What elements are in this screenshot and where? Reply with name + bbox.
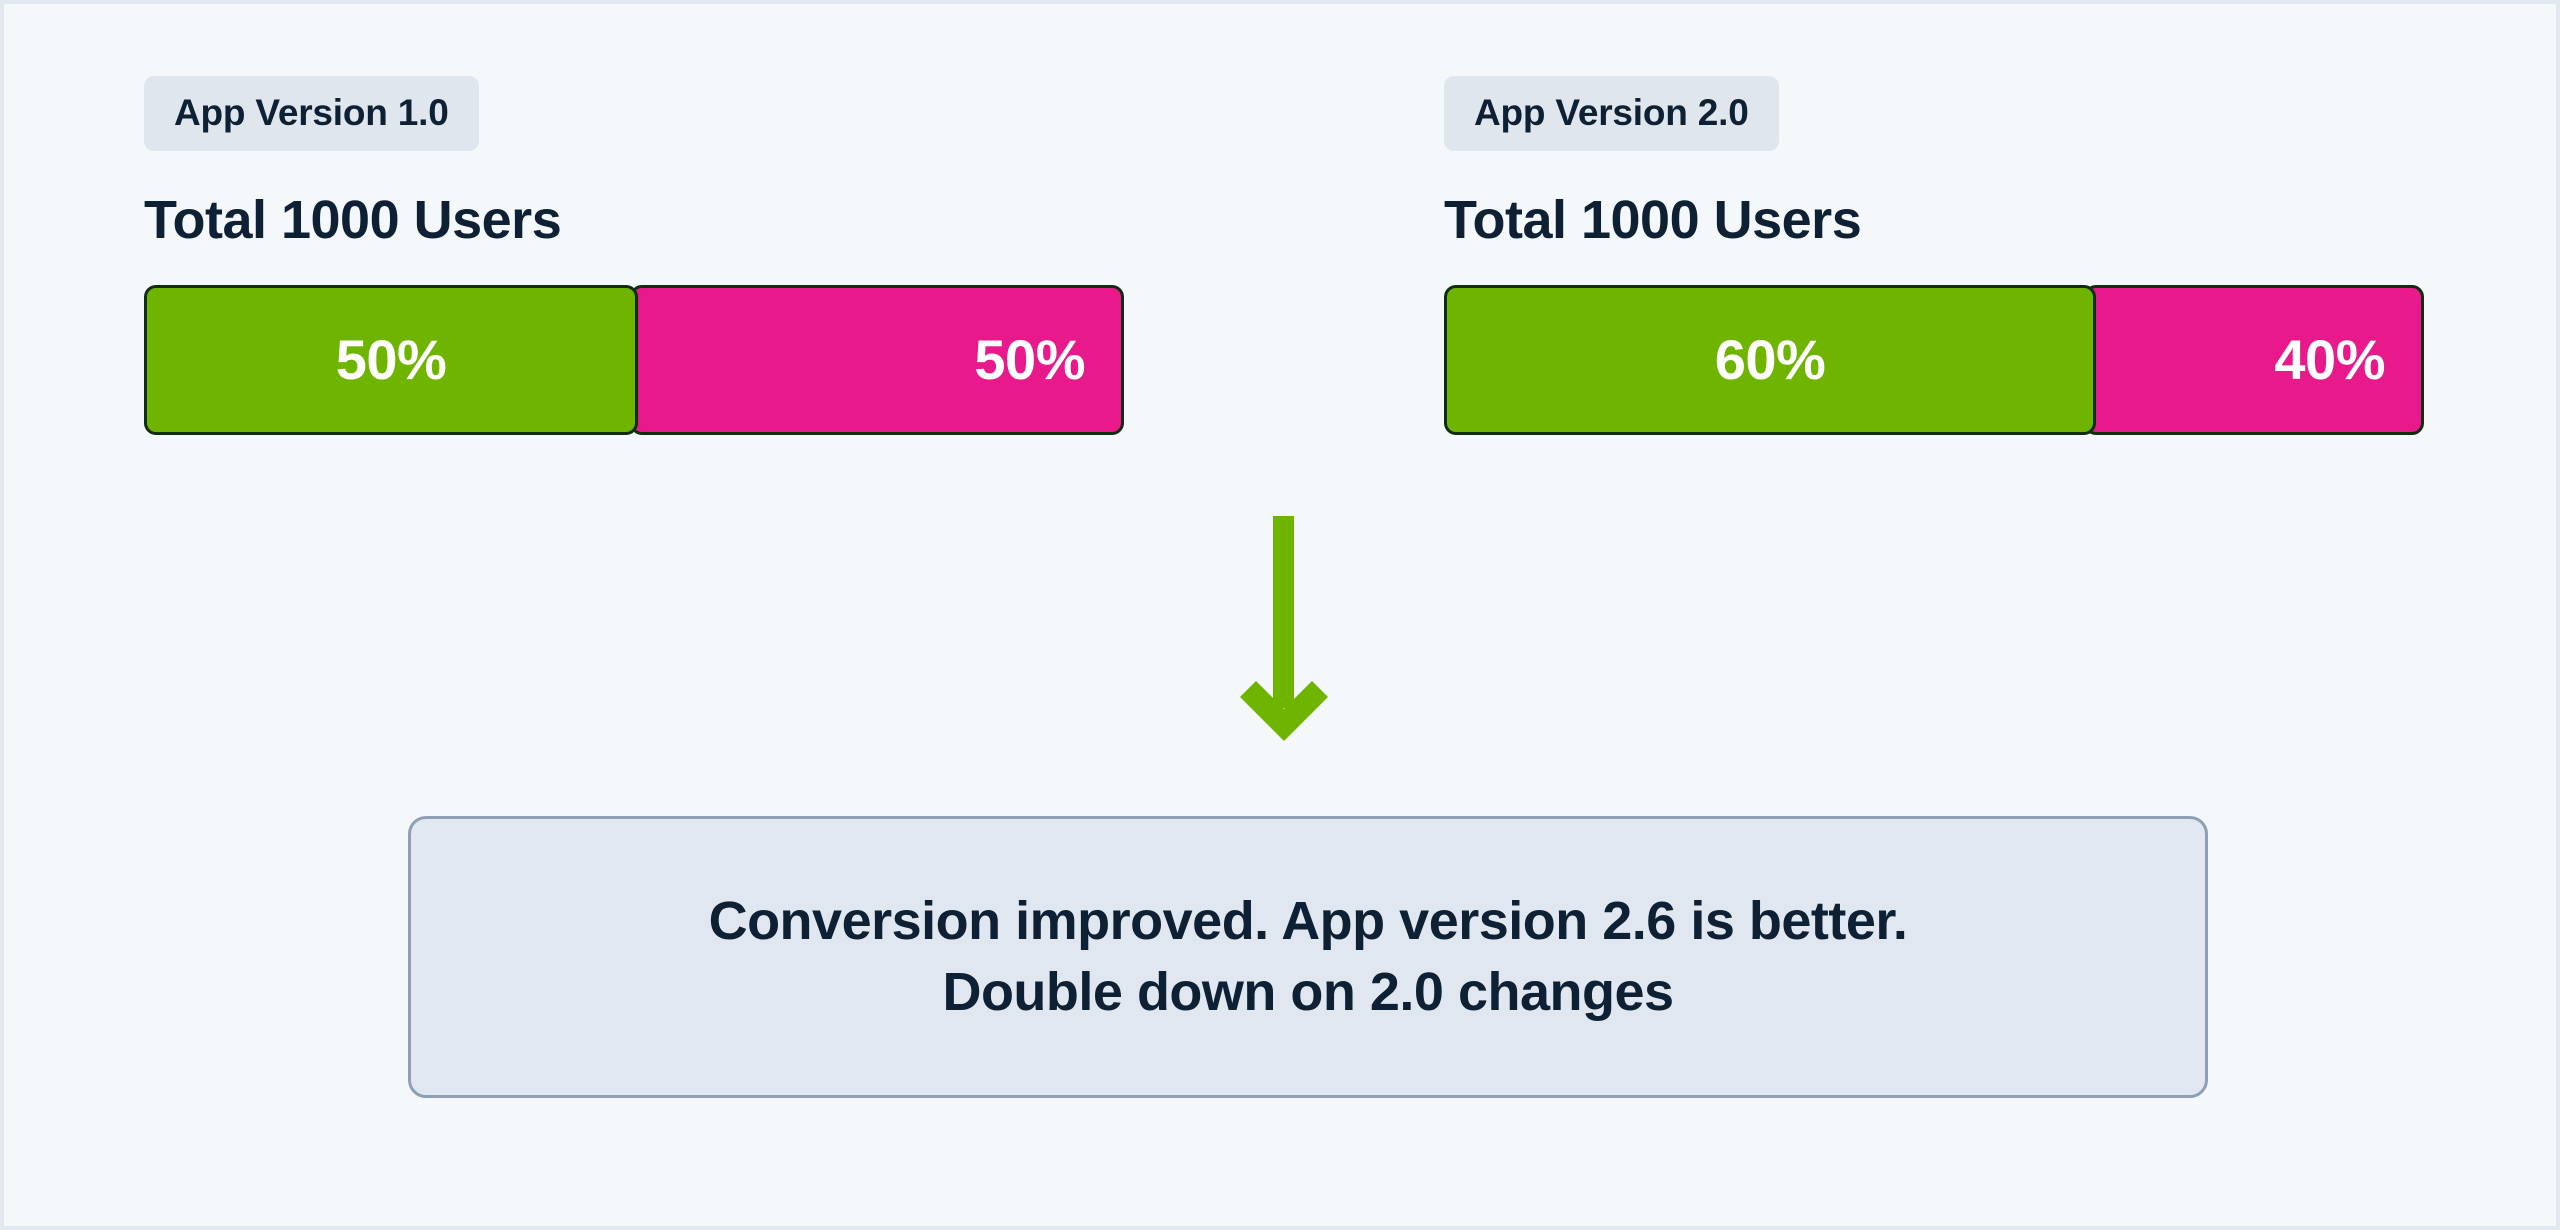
arrow-down-icon [1232,516,1336,756]
version-badge-1: App Version 1.0 [144,76,479,151]
comparison-panel-version-2: App Version 2.0 Total 1000 Users 60% 40% [1444,76,2444,435]
bar-segment-label: 60% [1715,332,1826,388]
conclusion-line-1: Conversion improved. App version 2.6 is … [709,886,1908,957]
conclusion-box: Conversion improved. App version 2.6 is … [408,816,2208,1098]
conclusion-line-2: Double down on 2.0 changes [709,957,1908,1028]
total-users-label-1: Total 1000 Users [144,193,1144,247]
split-bar-version-2: 60% 40% [1444,285,2424,435]
version-badge-2: App Version 2.0 [1444,76,1779,151]
split-bar-version-1: 50% 50% [144,285,1124,435]
bar-segment-converted-2: 60% [1444,285,2096,435]
total-users-label-2: Total 1000 Users [1444,193,2444,247]
bar-segment-converted-1: 50% [144,285,638,435]
conclusion-text: Conversion improved. App version 2.6 is … [669,886,1948,1029]
bar-segment-label: 50% [974,332,1085,388]
bar-segment-label: 40% [2274,332,2385,388]
comparison-panel-version-1: App Version 1.0 Total 1000 Users 50% 50% [144,76,1144,435]
bar-segment-not-converted-1: 50% [630,285,1124,435]
diagram-canvas: App Version 1.0 Total 1000 Users 50% 50%… [4,4,2556,1226]
bar-segment-not-converted-2: 40% [2084,285,2424,435]
bar-segment-label: 50% [336,332,447,388]
